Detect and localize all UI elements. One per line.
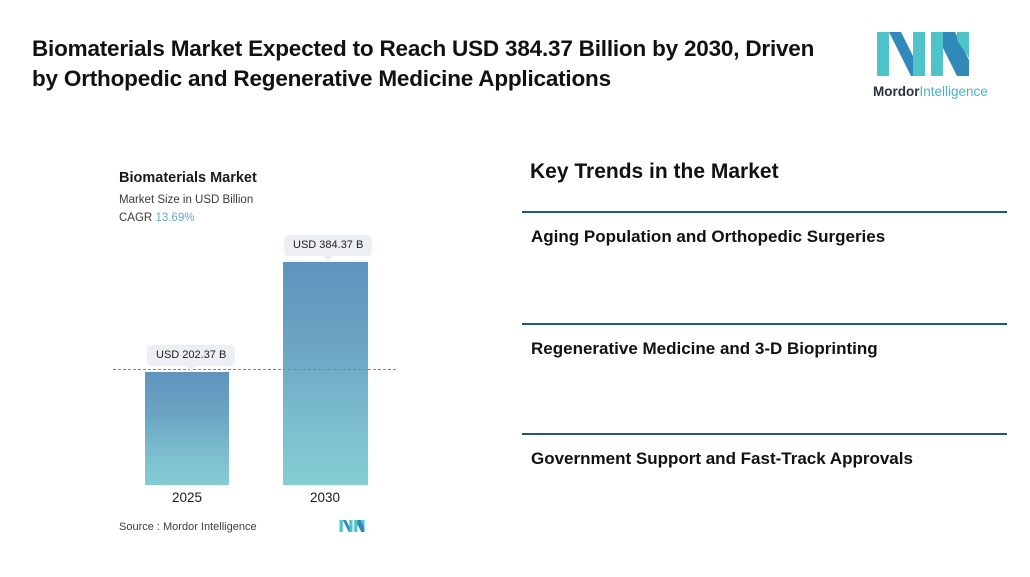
bar-2030 xyxy=(283,262,368,485)
bar-2025 xyxy=(145,372,229,485)
key-trends-heading: Key Trends in the Market xyxy=(530,160,779,184)
chart-panel: Biomaterials Market Market Size in USD B… xyxy=(0,120,500,577)
header: Biomaterials Market Expected to Reach US… xyxy=(0,0,1030,120)
trend-divider xyxy=(522,433,1007,435)
reference-dashed-line xyxy=(113,369,396,370)
chart-source-text: Source : Mordor Intelligence xyxy=(119,521,257,533)
trend-label: Regenerative Medicine and 3-D Bioprintin… xyxy=(531,336,1001,362)
data-label-2030: USD 384.37 B xyxy=(284,235,372,256)
source-logo-mark-icon xyxy=(339,518,365,534)
key-trends-panel: Key Trends in the Market Aging Populatio… xyxy=(500,120,1030,577)
data-label-2025: USD 202.37 B xyxy=(147,345,235,366)
trend-divider xyxy=(522,211,1007,213)
x-axis-label-2025: 2025 xyxy=(127,490,247,505)
brand-logo: MordorIntelligence xyxy=(873,28,973,106)
x-axis-label-2030: 2030 xyxy=(265,490,385,505)
brand-wordmark: MordorIntelligence xyxy=(873,84,973,99)
brand-wordmark-primary: Mordor xyxy=(873,84,920,99)
trend-label: Government Support and Fast-Track Approv… xyxy=(531,446,1001,472)
trend-label: Aging Population and Orthopedic Surgerie… xyxy=(531,224,1001,250)
page-title: Biomaterials Market Expected to Reach US… xyxy=(32,34,842,94)
brand-wordmark-secondary: Intelligence xyxy=(920,84,988,99)
mordor-intelligence-logo-mark xyxy=(875,28,971,80)
bar-chart-plot-area: USD 202.37 B USD 384.37 B 2025 2030 xyxy=(0,120,500,520)
trend-divider xyxy=(522,323,1007,325)
chart-source-row: Source : Mordor Intelligence xyxy=(119,518,379,540)
